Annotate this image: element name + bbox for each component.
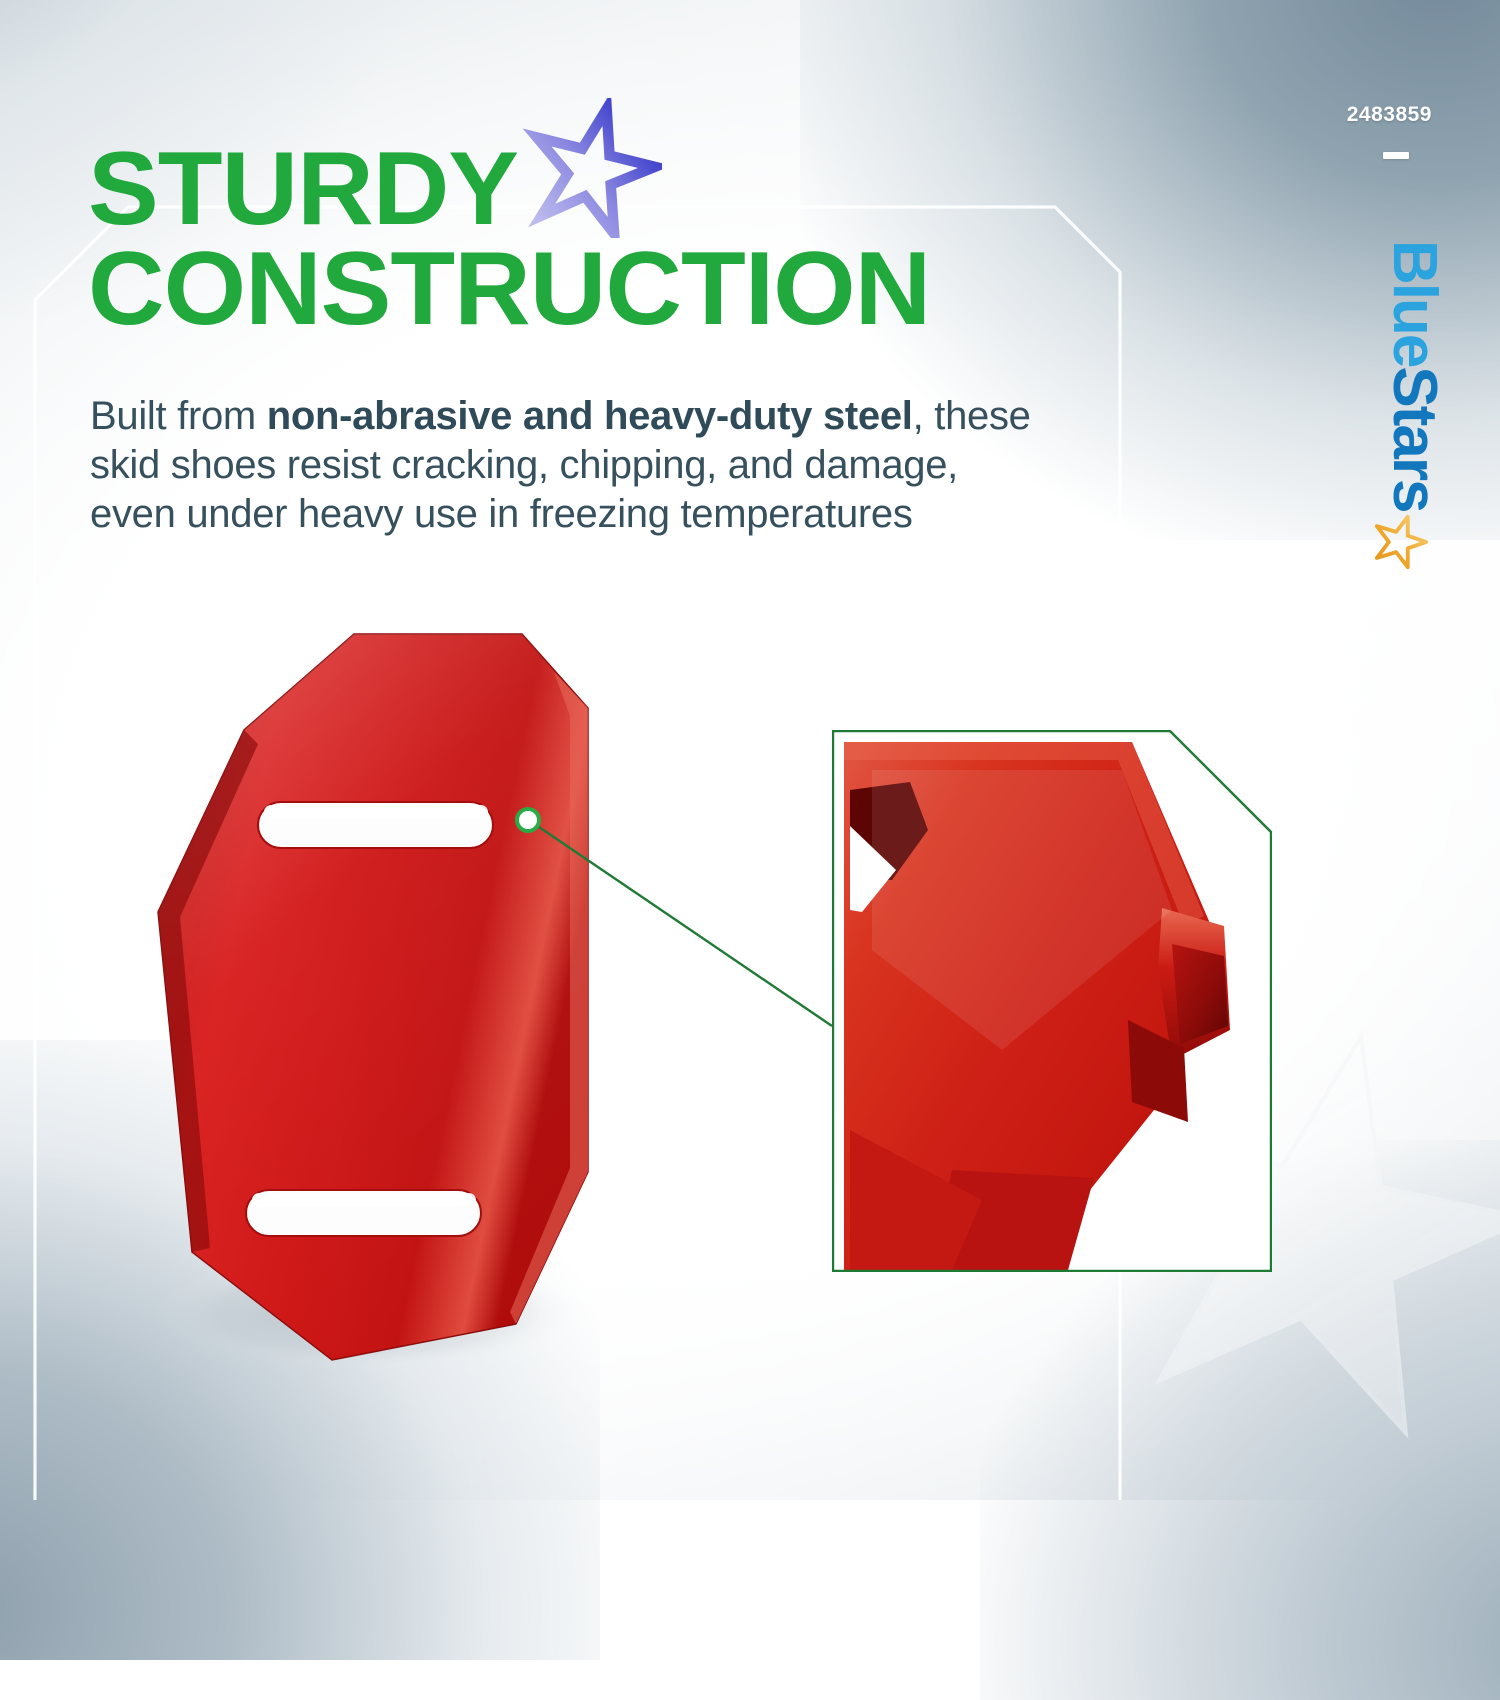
brand-logo: BlueStars (1354, 240, 1474, 640)
headline-line-2: CONSTRUCTION (88, 240, 1118, 340)
headline-line-1: STURDY (88, 140, 1118, 240)
body-bold-segment: non-abrasive and heavy-duty steel (267, 394, 913, 438)
body-paragraph: Built from non-abrasive and heavy-duty s… (90, 392, 1050, 538)
headline-block: STURDY CONSTRUCTION (88, 140, 1098, 340)
brand-word-blue: Blue (1383, 240, 1445, 366)
brand-word-stars: Stars (1383, 366, 1445, 511)
product-sku: 2483859 (1347, 103, 1432, 127)
brand-star-icon (1372, 513, 1430, 571)
callout-detail-box (832, 730, 1272, 1272)
product-main-image (118, 612, 638, 1382)
body-segment-1: Built from (90, 394, 267, 438)
sku-divider-dash (1383, 152, 1409, 159)
